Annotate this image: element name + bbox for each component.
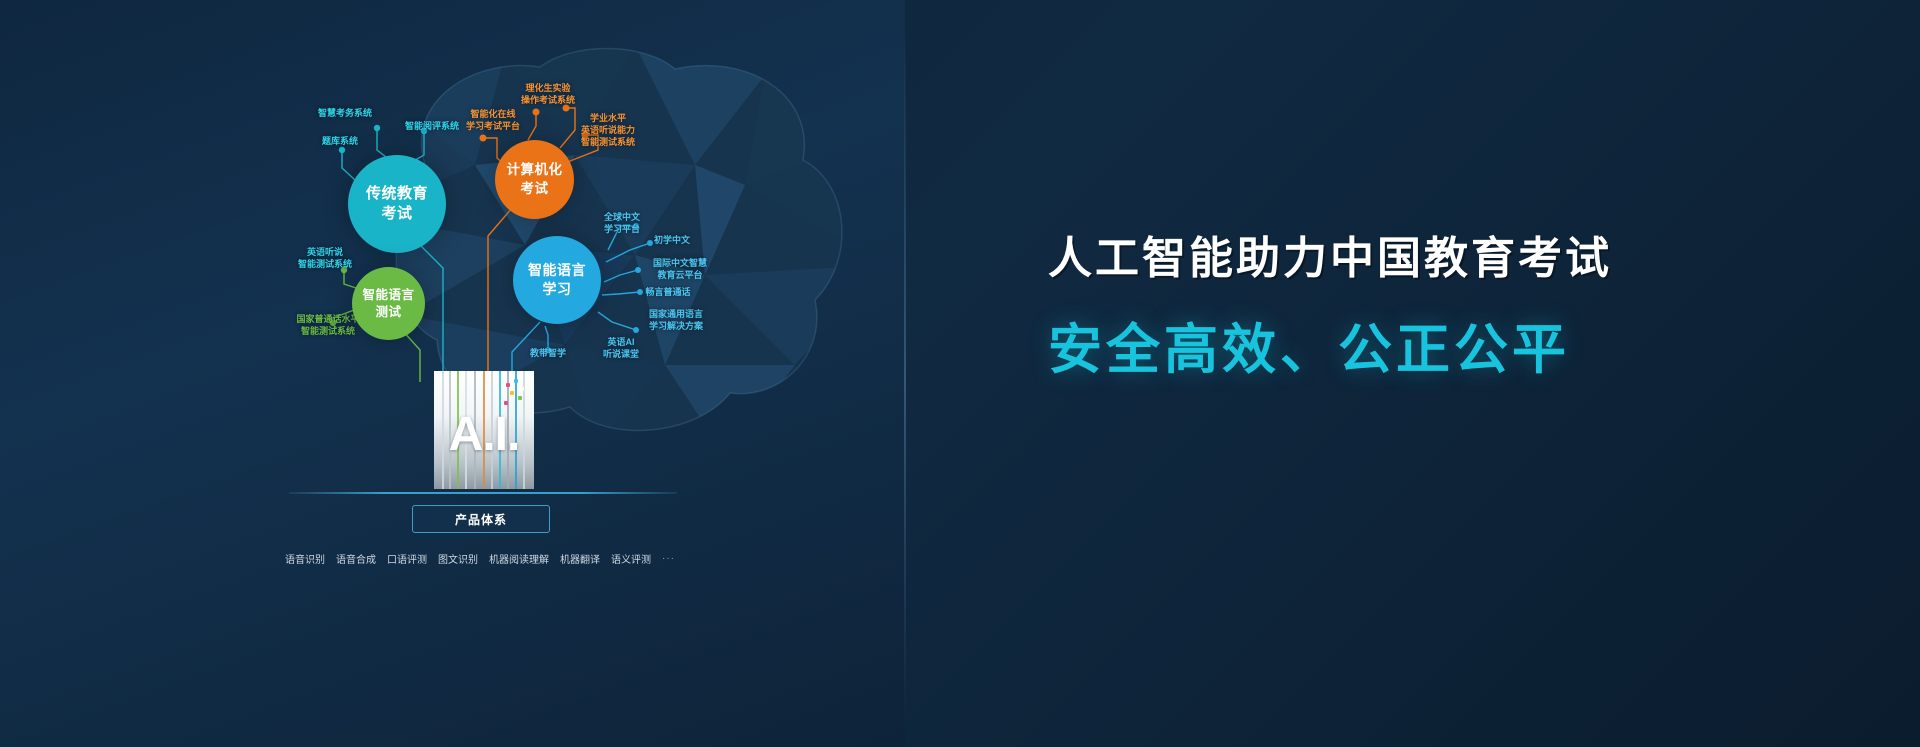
ai-education-banner: 智慧考务系统 智能阅评系统 题库系统 英语听说 智能测试系统 国家普通话水平 智… [0,0,1920,747]
panel-divider [904,35,906,725]
label-text-line3: 智能测试系统 [581,136,635,148]
tag-oral-evaluation[interactable]: 口语评测 [387,551,427,566]
node-computer-based-exam[interactable]: 计算机化 考试 [495,140,574,219]
label-text: 题库系统 [322,135,358,147]
node-label-line2: 考试 [366,204,428,224]
product-system-button[interactable]: 产品体系 [412,505,550,533]
banner-headline: 人工智能助力中国教育考试 [1048,231,1848,286]
ai-logo-block: A.I. [434,371,534,489]
label-text-line2: 操作考试系统 [521,94,575,106]
node-intelligent-language-test[interactable]: 智能语言 测试 [352,267,425,340]
node-label-line2: 学习 [528,280,586,299]
label-text-line2: 听说课堂 [603,348,639,360]
label-text-line2: 智能测试系统 [296,325,359,337]
label-question-bank-system: 题库系统 [322,135,358,147]
tag-image-text-recognition[interactable]: 图文识别 [438,551,478,566]
label-global-chinese-learning-platform: 全球中文 学习平台 [604,211,640,235]
label-physics-chemistry-biology-experiment: 理化生实验 操作考试系统 [521,82,575,106]
product-system-label: 产品体系 [455,511,507,528]
label-text-line2: 学习考试平台 [466,120,520,132]
node-label-line1: 计算机化 [507,161,563,179]
tag-speech-synthesis[interactable]: 语音合成 [336,551,376,566]
label-smart-exam-affairs-system: 智慧考务系统 [318,107,372,119]
label-national-common-language-solution: 国家通用语言 学习解决方案 [649,308,703,332]
label-text-line1: 国家普通话水平 [296,313,359,325]
tag-speech-recognition[interactable]: 语音识别 [285,551,325,566]
label-text-line1: 英语AI [603,336,639,348]
label-english-listening-speaking-smart-test: 英语听说 智能测试系统 [298,246,352,270]
label-text-line1: 全球中文 [604,211,640,223]
tag-more[interactable]: ··· [662,553,675,564]
label-intelligent-online-learning-exam-platform: 智能化在线 学习考试平台 [466,108,520,132]
node-label-line1: 智能语言 [362,287,414,304]
node-label-line1: 智能语言 [528,261,586,280]
banner-text-block: 人工智能助力中国教育考试 安全高效、公正公平 [1048,231,1848,383]
node-label-line2: 测试 [362,304,414,321]
label-text-line1: 国际中文智慧 [653,257,707,269]
label-smooth-mandarin: 畅言普通话 [645,286,690,298]
label-text: 智慧考务系统 [318,107,372,119]
baseline-divider [289,492,677,494]
label-intelligent-marking-system: 智能阅评系统 [405,120,459,132]
node-intelligent-language-learning[interactable]: 智能语言 学习 [513,236,601,324]
label-text-line2: 教育云平台 [653,269,707,281]
label-english-ai-listening-speaking-class: 英语AI 听说课堂 [603,336,639,360]
label-academic-level-english-test: 学业水平 英语听说能力 智能测试系统 [581,112,635,148]
banner-subline: 安全高效、公正公平 [1048,318,1848,383]
label-text-line2: 智能测试系统 [298,258,352,270]
label-text-line1: 英语听说 [298,246,352,258]
tag-machine-translation[interactable]: 机器翻译 [560,551,600,566]
tag-semantic-evaluation[interactable]: 语义评测 [611,551,651,566]
label-national-mandarin-level-smart-test: 国家普通话水平 智能测试系统 [296,313,359,337]
label-intl-chinese-smart-edu-cloud: 国际中文智慧 教育云平台 [653,257,707,281]
label-text: 初学中文 [654,234,690,246]
label-learn-chinese: 初学中文 [654,234,690,246]
label-text: 畅言普通话 [645,286,690,298]
node-traditional-education-exam[interactable]: 传统教育 考试 [348,155,446,253]
node-label-line2: 考试 [507,180,563,198]
label-text-line1: 国家通用语言 [649,308,703,320]
label-text: 智能阅评系统 [405,120,459,132]
label-text-line1: 理化生实验 [521,82,575,94]
label-text-line2: 学习平台 [604,223,640,235]
ai-logo-text: A.I. [434,407,534,462]
label-teaching-wisdom: 教带智学 [530,347,566,359]
capability-tag-list: 语音识别 语音合成 口语评测 图文识别 机器阅读理解 机器翻译 语义评测 ··· [285,551,675,566]
node-label-line1: 传统教育 [366,184,428,204]
label-text-line1: 学业水平 [581,112,635,124]
tag-machine-reading-comprehension[interactable]: 机器阅读理解 [489,551,549,566]
label-text-line2: 学习解决方案 [649,320,703,332]
illustration-panel: 智慧考务系统 智能阅评系统 题库系统 英语听说 智能测试系统 国家普通话水平 智… [0,0,905,747]
label-text-line1: 智能化在线 [466,108,520,120]
label-text-line2: 英语听说能力 [581,124,635,136]
label-text: 教带智学 [530,347,566,359]
